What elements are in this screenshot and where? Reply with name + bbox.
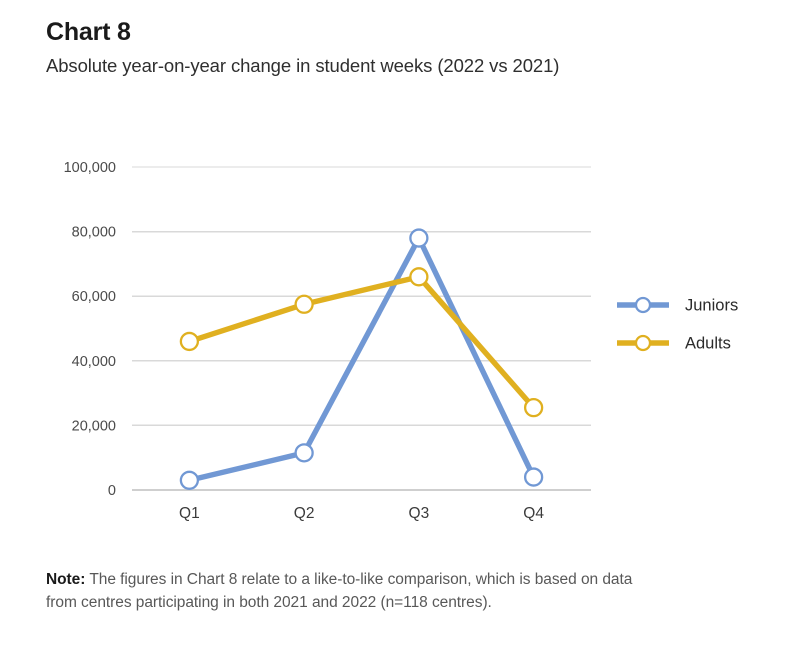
y-axis-tick-label: 40,000 <box>72 354 116 370</box>
x-axis-tick-label: Q3 <box>409 505 430 522</box>
x-axis-tick-label: Q2 <box>294 505 315 522</box>
series-line-juniors <box>189 238 533 480</box>
chart-figure: 020,00040,00060,00080,000100,000 Q1Q2Q3Q… <box>0 140 810 540</box>
data-point-marker <box>296 444 313 461</box>
x-axis-labels-group: Q1Q2Q3Q4 <box>179 505 544 522</box>
data-point-marker <box>525 469 542 486</box>
x-axis-tick-label: Q4 <box>523 505 544 522</box>
legend-label-adults: Adults <box>685 334 731 352</box>
data-point-marker <box>296 296 313 313</box>
page-title: Chart 8 <box>46 18 746 48</box>
data-point-marker <box>181 333 198 350</box>
legend-swatch-marker <box>636 298 650 312</box>
legend-label-juniors: Juniors <box>685 296 738 314</box>
note-label: Note: <box>46 571 85 588</box>
data-point-marker <box>410 230 427 247</box>
series-group <box>181 230 542 489</box>
chart-header: Chart 8 Absolute year-on-year change in … <box>46 18 746 78</box>
gridlines-group <box>132 167 591 490</box>
y-axis-tick-label: 60,000 <box>72 289 116 305</box>
chart-note: Note: The figures in Chart 8 relate to a… <box>46 568 661 615</box>
note-text: The figures in Chart 8 relate to a like-… <box>46 571 632 611</box>
data-point-marker <box>525 399 542 416</box>
data-point-marker <box>181 472 198 489</box>
data-point-marker <box>410 268 427 285</box>
chart-legend: JuniorsAdults <box>617 296 738 352</box>
chart-page: Chart 8 Absolute year-on-year change in … <box>0 0 810 658</box>
y-axis-labels-group: 020,00040,00060,00080,000100,000 <box>64 160 116 499</box>
y-axis-tick-label: 80,000 <box>72 225 116 241</box>
chart-subtitle: Absolute year-on-year change in student … <box>46 54 746 78</box>
y-axis-tick-label: 100,000 <box>64 160 116 176</box>
legend-swatch-marker <box>636 336 650 350</box>
x-axis-tick-label: Q1 <box>179 505 200 522</box>
y-axis-tick-label: 0 <box>108 483 116 499</box>
y-axis-tick-label: 20,000 <box>72 418 116 434</box>
line-chart-svg: 020,00040,00060,00080,000100,000 Q1Q2Q3Q… <box>0 140 810 540</box>
